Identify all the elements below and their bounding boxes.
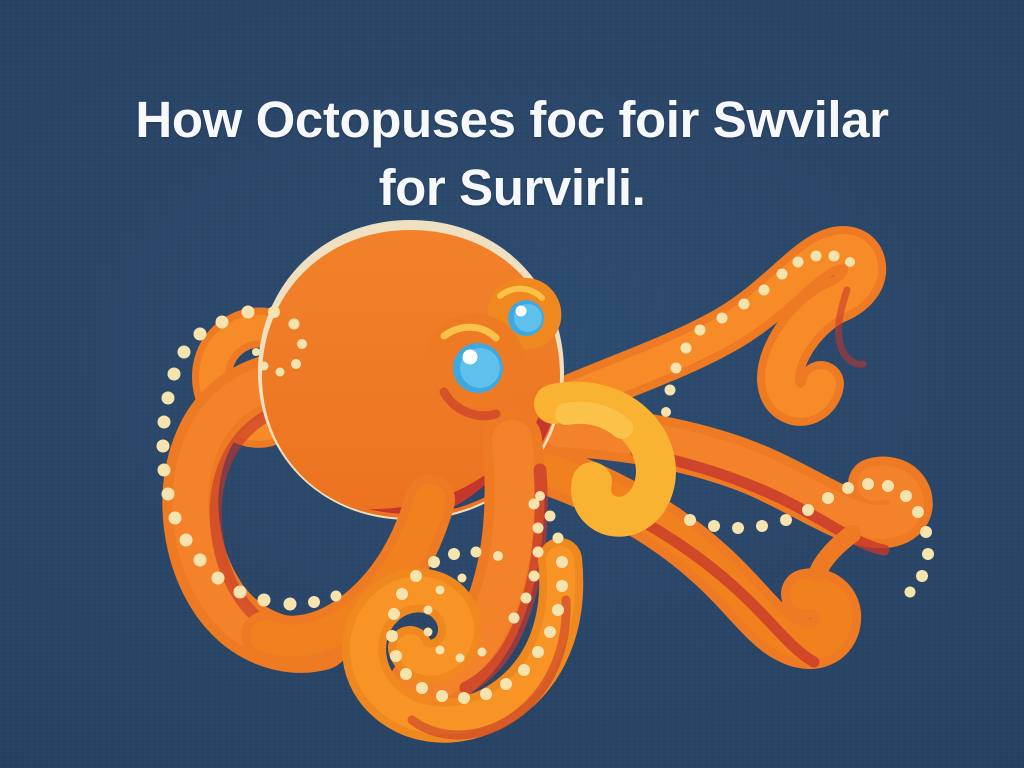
title-block: How Octopuses foc foir Swvilar for Survi… (0, 86, 1024, 222)
title-line-2: for Survirli. (0, 154, 1024, 222)
title-card: How Octopuses foc foir Swvilar for Survi… (0, 0, 1024, 768)
title-line-1: How Octopuses foc foir Swvilar (0, 86, 1024, 154)
upper-right-tentacle (565, 249, 863, 403)
